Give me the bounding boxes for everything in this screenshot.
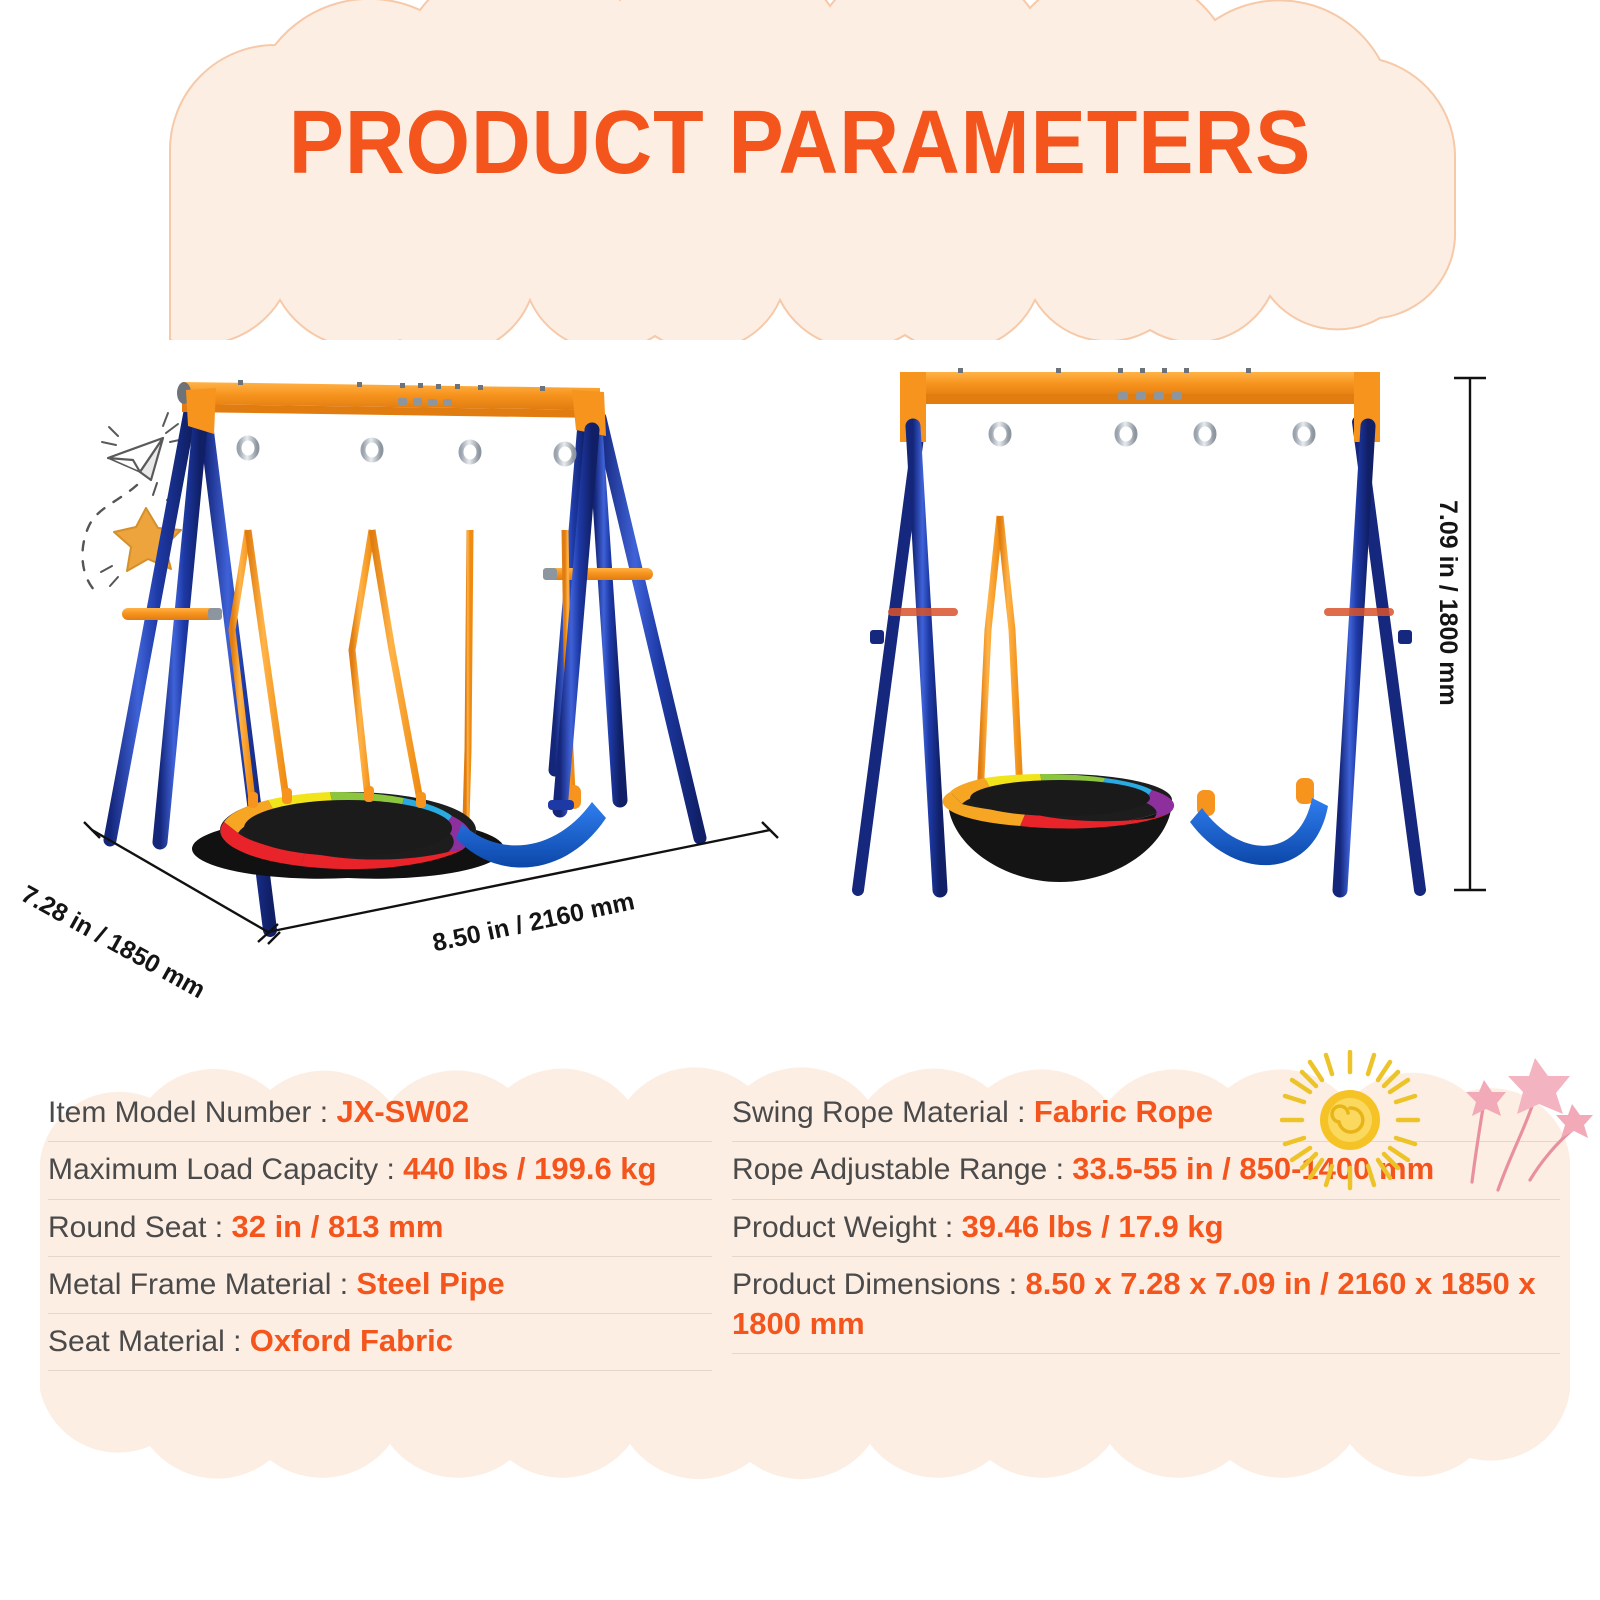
top-beam: [177, 380, 606, 436]
spec-label: Item Model Number :: [48, 1096, 336, 1129]
swing-set-angled-view: [84, 380, 778, 944]
dimension-label-height: 7.09 in / 1800 mm: [1433, 500, 1462, 706]
spec-label: Maximum Load Capacity :: [48, 1153, 403, 1186]
carabiner-hook: [461, 412, 479, 462]
spec-value: JX-SW02: [336, 1094, 469, 1129]
carabiner-hook: [239, 408, 257, 458]
product-illustration: [0, 330, 1600, 1030]
spec-label: Product Dimensions :: [732, 1268, 1025, 1301]
spec-label: Rope Adjustable Range :: [732, 1153, 1072, 1186]
page-title: PRODUCT PARAMETERS: [64, 92, 1536, 195]
carabiner-hook: [363, 410, 381, 460]
spec-label: Metal Frame Material :: [48, 1268, 356, 1301]
spec-value: Oxford Fabric: [250, 1323, 453, 1358]
spec-label: Seat Material :: [48, 1325, 250, 1358]
spec-value: 32 in / 813 mm: [231, 1209, 443, 1244]
spec-row: Metal Frame Material : Steel Pipe: [48, 1257, 712, 1314]
adjustable-ropes: [980, 396, 1314, 816]
top-beam: [900, 368, 1380, 442]
product-parameters-infographic: PRODUCT PARAMETERS: [0, 0, 1600, 1600]
carabiner-hook: [556, 414, 574, 464]
paper-plane-icon: [102, 413, 184, 480]
spec-label: Product Weight :: [732, 1211, 962, 1244]
spec-value: Steel Pipe: [356, 1266, 504, 1301]
spec-value: Fabric Rope: [1034, 1094, 1213, 1129]
spec-row: Item Model Number : JX-SW02: [48, 1085, 712, 1142]
spec-label: Round Seat :: [48, 1211, 231, 1244]
adjustable-ropes: [232, 408, 581, 820]
sun-icon: [1282, 1052, 1418, 1188]
spec-row: Round Seat : 32 in / 813 mm: [48, 1200, 712, 1257]
round-saucer-seat: [943, 774, 1174, 882]
specs-column-left: Item Model Number : JX-SW02 Maximum Load…: [0, 1085, 720, 1371]
decorations-sun-flowers: [1280, 1050, 1600, 1220]
spec-value: 39.46 lbs / 17.9 kg: [962, 1209, 1224, 1244]
spec-row: Seat Material : Oxford Fabric: [48, 1314, 712, 1371]
round-saucer-seat: [192, 786, 504, 879]
spec-label: Swing Rope Material :: [732, 1096, 1034, 1129]
spec-row: Product Dimensions : 8.50 x 7.28 x 7.09 …: [732, 1257, 1560, 1355]
flowers-icon: [1466, 1058, 1593, 1190]
swing-set-front-view: [858, 368, 1486, 890]
spec-value: 440 lbs / 199.6 kg: [403, 1151, 656, 1186]
spec-row: Maximum Load Capacity : 440 lbs / 199.6 …: [48, 1142, 712, 1199]
